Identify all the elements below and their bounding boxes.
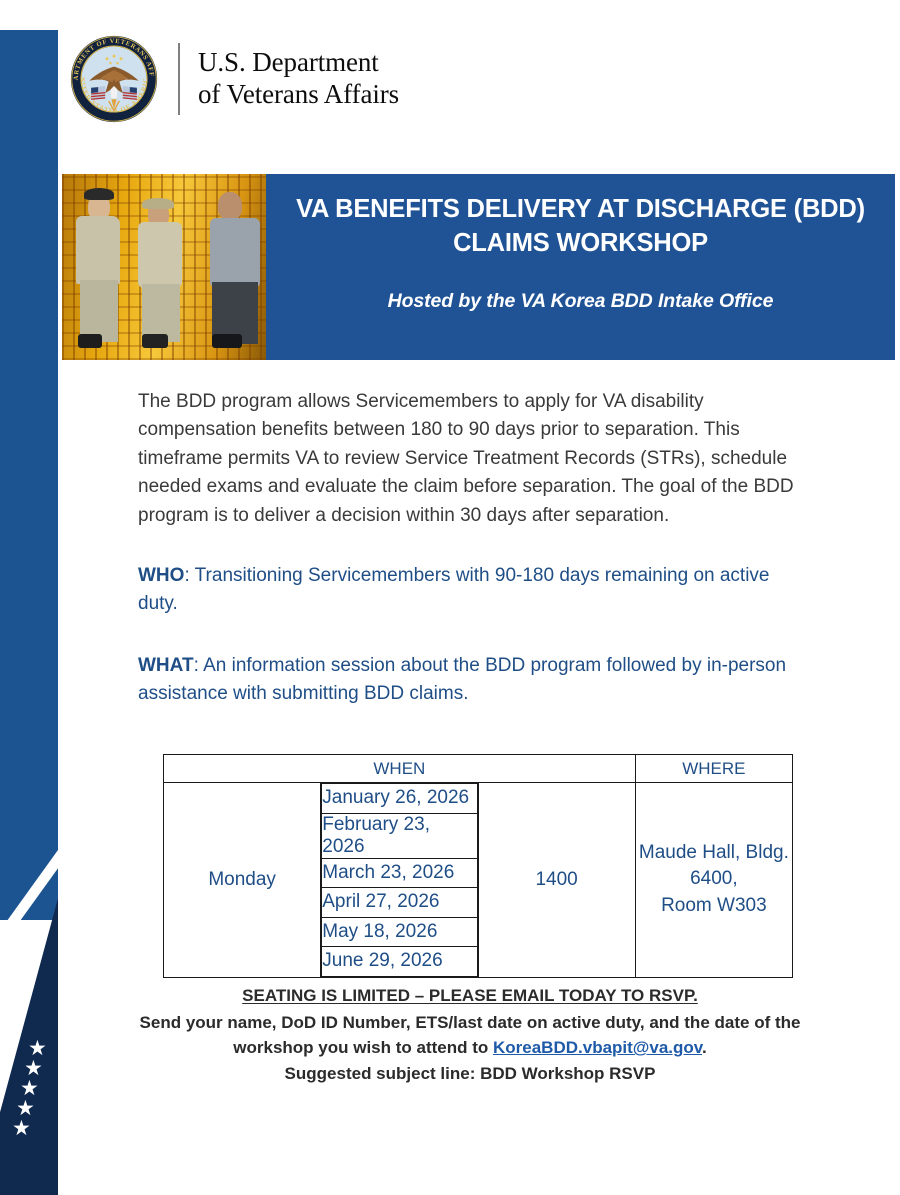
- who-label: WHO: [138, 565, 184, 586]
- cell-date: May 18, 2026: [322, 917, 477, 947]
- dates-list: January 26, 2026February 23, 2026March 2…: [321, 783, 477, 977]
- who-text: : Transitioning Servicemembers with 90-1…: [138, 565, 770, 614]
- banner-title: VA BENEFITS DELIVERY AT DISCHARGE (BDD) …: [286, 192, 875, 260]
- figure-head: [218, 192, 242, 220]
- cell-day: Monday: [164, 783, 321, 978]
- cell-date: June 29, 2026: [322, 947, 477, 977]
- date-row: April 27, 2026: [322, 888, 477, 918]
- table-row: Monday January 26, 2026February 23, 2026…: [164, 783, 793, 978]
- figure-boot: [212, 334, 242, 348]
- cell-date: March 23, 2026: [322, 858, 477, 888]
- figure-torso: [76, 216, 120, 284]
- date-row: May 18, 2026: [322, 917, 477, 947]
- star-icon: ★: [12, 1118, 31, 1139]
- schedule-table-wrapper: WHEN WHERE Monday January 26, 2026Februa…: [163, 754, 793, 978]
- table-header-row: WHEN WHERE: [164, 755, 793, 783]
- body-copy: The BDD program allows Servicemembers to…: [138, 388, 810, 709]
- figure-torso: [210, 218, 260, 288]
- rsvp-instructions: Send your name, DoD ID Number, ETS/last …: [110, 1010, 830, 1062]
- star-icon: ★: [28, 1038, 47, 1059]
- va-brand-lockup: DEPARTMENT OF VETERANS AFFAIRS UNITED ST…: [70, 24, 490, 134]
- left-decorative-rail: ★★★★★: [0, 30, 58, 1165]
- column-header-where: WHERE: [635, 755, 792, 783]
- figure-boot: [78, 334, 102, 348]
- star-icon: ★: [20, 1078, 39, 1099]
- star-cluster: ★★★★★: [0, 1038, 58, 1148]
- star-icon: ★: [16, 1098, 35, 1119]
- figure-cap: [84, 188, 114, 200]
- date-row: March 23, 2026: [322, 858, 477, 888]
- rsvp-subject-line: Suggested subject line: BDD Workshop RSV…: [110, 1061, 830, 1087]
- va-seal-icon: DEPARTMENT OF VETERANS AFFAIRS UNITED ST…: [70, 35, 158, 123]
- header-divider: [178, 43, 180, 115]
- title-banner: VA BENEFITS DELIVERY AT DISCHARGE (BDD) …: [62, 174, 895, 360]
- cell-date: February 23, 2026: [322, 813, 477, 858]
- figure-boot: [142, 334, 168, 348]
- banner-subtitle: Hosted by the VA Korea BDD Intake Office: [388, 290, 774, 313]
- cell-dates: January 26, 2026February 23, 2026March 2…: [321, 783, 478, 978]
- rsvp-email-link[interactable]: KoreaBDD.vbapit@va.gov: [493, 1038, 702, 1057]
- star-icon: ★: [24, 1058, 43, 1079]
- cell-time: 1400: [478, 783, 635, 978]
- column-header-when: WHEN: [164, 755, 636, 783]
- rail-blue-band: [0, 30, 58, 920]
- cell-date: April 27, 2026: [322, 888, 477, 918]
- figure-legs: [80, 280, 118, 342]
- cell-location: Maude Hall, Bldg. 6400, Room W303: [635, 783, 792, 978]
- servicemembers-photo: [62, 174, 266, 360]
- what-paragraph: WHAT: An information session about the B…: [138, 652, 810, 709]
- figure-torso: [138, 222, 182, 288]
- date-row: January 26, 2026: [322, 784, 477, 814]
- date-row: February 23, 2026: [322, 813, 477, 858]
- what-label: WHAT: [138, 655, 194, 676]
- intro-paragraph: The BDD program allows Servicemembers to…: [138, 388, 810, 530]
- rsvp-line-2-suffix: .: [702, 1038, 707, 1057]
- va-wordmark: U.S. Department of Veterans Affairs: [198, 47, 399, 110]
- banner-text-block: VA BENEFITS DELIVERY AT DISCHARGE (BDD) …: [266, 174, 895, 360]
- figure-cap: [142, 198, 174, 209]
- who-paragraph: WHO: Transitioning Servicemembers with 9…: [138, 562, 810, 619]
- rsvp-block: SEATING IS LIMITED – PLEASE EMAIL TODAY …: [110, 983, 830, 1087]
- cell-date: January 26, 2026: [322, 784, 477, 814]
- rsvp-line-1: Send your name, DoD ID Number, ETS/last …: [140, 1013, 750, 1032]
- date-row: June 29, 2026: [322, 947, 477, 977]
- schedule-table: WHEN WHERE Monday January 26, 2026Februa…: [163, 754, 793, 978]
- rsvp-headline: SEATING IS LIMITED – PLEASE EMAIL TODAY …: [110, 983, 830, 1009]
- what-text: : An information session about the BDD p…: [138, 655, 786, 704]
